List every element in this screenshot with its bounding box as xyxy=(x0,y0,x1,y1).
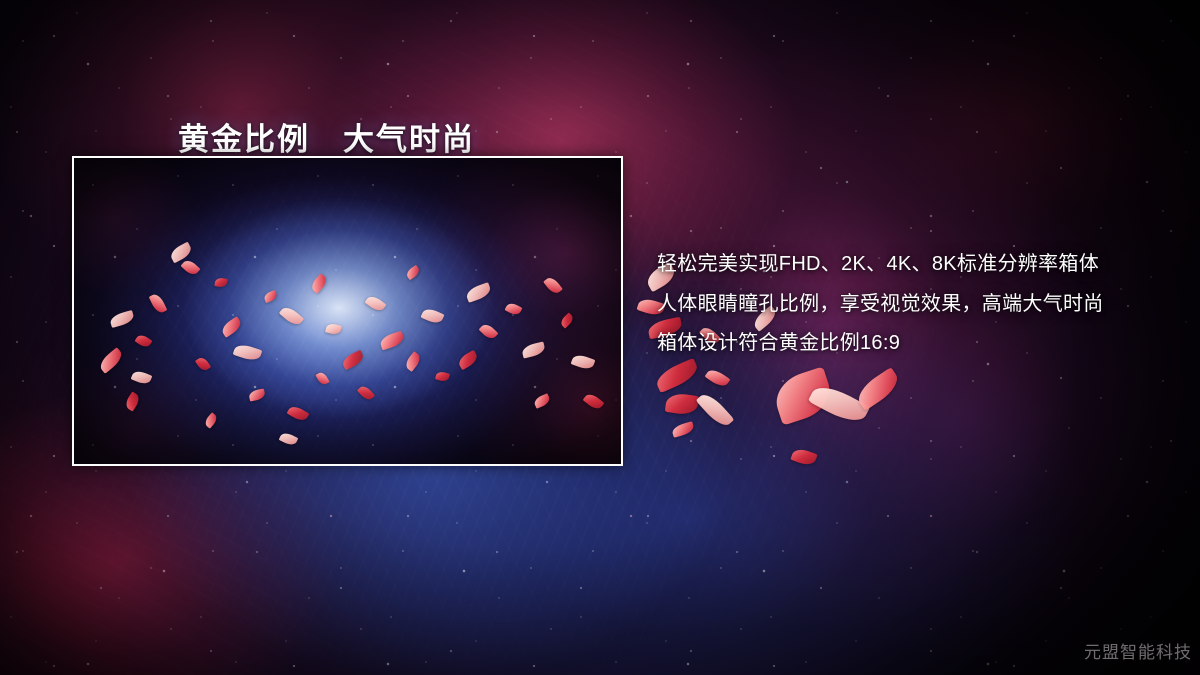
rose-petal xyxy=(287,404,310,424)
rose-petal xyxy=(808,380,870,428)
rose-petal xyxy=(420,306,444,326)
rose-petal xyxy=(653,358,701,393)
rose-petal xyxy=(279,431,299,447)
panel-petals xyxy=(74,158,621,464)
rose-petal xyxy=(543,275,563,296)
image-frame-panel xyxy=(72,156,623,466)
rose-petal xyxy=(203,412,219,429)
rose-petal xyxy=(195,355,211,372)
rose-petal xyxy=(233,342,263,363)
rose-petal xyxy=(309,273,329,294)
description-line-1: 轻松完美实现FHD、2K、4K、8K标准分辨率箱体 xyxy=(657,252,1177,278)
description-line-2: 人体眼睛瞳孔比例，享受视觉效果，高端大气时尚 xyxy=(657,292,1177,318)
rose-petal xyxy=(665,392,699,416)
rose-petal xyxy=(168,242,194,264)
rose-petal xyxy=(465,282,493,303)
rose-petal xyxy=(248,388,266,401)
rose-petal xyxy=(97,347,125,374)
rose-petal xyxy=(583,391,605,411)
rose-petal xyxy=(219,316,243,338)
rose-petal xyxy=(696,390,735,430)
rose-petal xyxy=(521,341,546,358)
rose-petal xyxy=(435,370,450,382)
rose-petal xyxy=(149,292,168,315)
rose-petal xyxy=(479,322,499,342)
rose-petal xyxy=(214,277,227,288)
rose-petal xyxy=(559,312,575,328)
rose-petal xyxy=(325,322,342,335)
rose-petal xyxy=(123,391,141,411)
rose-petal xyxy=(571,353,596,372)
rose-petal xyxy=(340,350,365,370)
rose-petal xyxy=(533,393,552,409)
rose-petal xyxy=(770,366,837,425)
rose-petal xyxy=(790,446,817,467)
page-title: 黄金比例 大气时尚 xyxy=(178,121,475,160)
rose-petal xyxy=(365,293,387,313)
rose-petal xyxy=(403,351,423,372)
watermark-label: 元盟智能科技 xyxy=(1084,638,1192,663)
rose-petal xyxy=(263,290,278,303)
rose-petal xyxy=(705,367,731,390)
rose-petal xyxy=(181,258,201,278)
rose-petal xyxy=(315,371,329,387)
description-line-3: 箱体设计符合黄金比例16:9 xyxy=(657,331,1177,357)
slide-canvas: 黄金比例 大气时尚 轻松完美实现FHD、2K、4K、8K标准分辨率箱体 人体眼睛… xyxy=(0,0,1200,675)
rose-petal xyxy=(405,265,422,281)
rose-petal xyxy=(505,301,523,317)
rose-petal xyxy=(279,304,304,328)
rose-petal xyxy=(456,350,479,370)
rose-petal xyxy=(853,367,903,411)
rose-petal xyxy=(131,369,153,386)
description-text-block: 轻松完美实现FHD、2K、4K、8K标准分辨率箱体 人体眼睛瞳孔比例，享受视觉效… xyxy=(657,252,1177,357)
rose-petal xyxy=(379,331,406,351)
rose-petal xyxy=(671,421,695,438)
rose-petal xyxy=(134,333,152,350)
rose-petal xyxy=(109,310,135,328)
rose-petal xyxy=(357,384,375,403)
